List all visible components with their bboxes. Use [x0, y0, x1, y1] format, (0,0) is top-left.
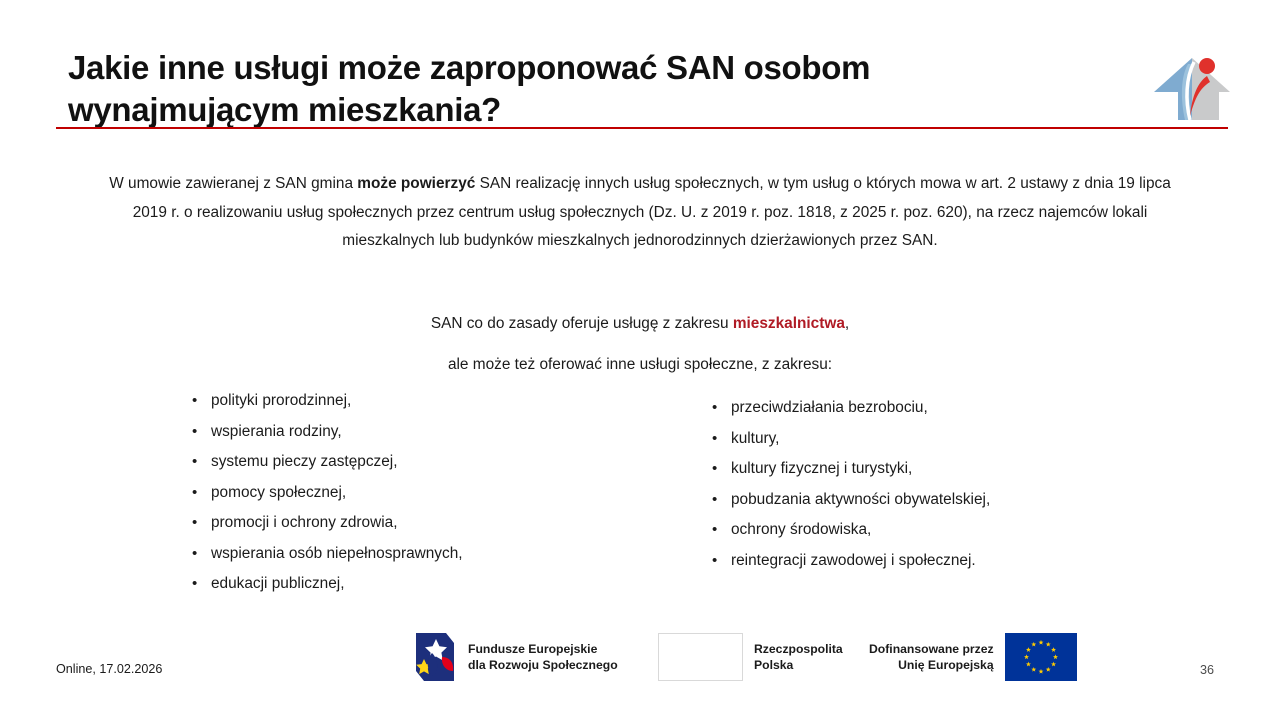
list-item: polityki prorodzinnej, [190, 386, 660, 417]
poland-label: Rzeczpospolita Polska [754, 641, 843, 674]
intro-line-suffix: , [845, 315, 849, 332]
page-title: Jakie inne usługi może zaproponować SAN … [68, 47, 1078, 131]
paragraph-emphasis: może powierzyć [357, 175, 475, 192]
list-item: pobudzania aktywności obywatelskiej, [710, 485, 1180, 516]
list-item: systemu pieczy zastępczej, [190, 447, 660, 478]
accent-keyword: mieszkalnictwa [733, 315, 845, 332]
unia-europejska-logo: Dofinansowane przez Unię Europejską [869, 633, 1077, 681]
list-item: kultury, [710, 424, 1180, 455]
list-item: kultury fizycznej i turystyki, [710, 454, 1180, 485]
poland-flag-icon [658, 633, 743, 681]
list-item: pomocy społecznej, [190, 478, 660, 509]
eu-flag-icon [1005, 633, 1077, 681]
title-divider [56, 127, 1228, 129]
fundusze-europejskie-logo: Fundusze Europejskie dla Rozwoju Społecz… [412, 631, 618, 683]
san-house-logo [1148, 48, 1236, 126]
funding-logo-strip: Fundusze Europejskie dla Rozwoju Społecz… [412, 628, 1112, 688]
intro-line-prefix: SAN co do zasady oferuje usługę z zakres… [431, 315, 733, 332]
lead-paragraph: W umowie zawieranej z SAN gmina może pow… [96, 170, 1184, 256]
eu-label: Dofinansowane przez Unię Europejską [869, 641, 994, 674]
rzeczpospolita-polska-logo: Rzeczpospolita Polska [658, 633, 843, 681]
list-item: przeciwdziałania bezrobociu, [710, 393, 1180, 424]
footer-note: Online, 17.02.2026 [56, 662, 162, 676]
intro-line-primary: SAN co do zasady oferuje usługę z zakres… [96, 315, 1184, 333]
list-item: reintegracji zawodowej i społecznej. [710, 546, 1180, 577]
list-item: wspierania rodziny, [190, 417, 660, 448]
eu-funds-label: Fundusze Europejskie dla Rozwoju Społecz… [468, 641, 618, 674]
bullet-list-right: przeciwdziałania bezrobociu, kultury, ku… [710, 393, 1180, 576]
list-item: wspierania osób niepełnosprawnych, [190, 539, 660, 570]
paragraph-text-start: W umowie zawieranej z SAN gmina [109, 175, 357, 192]
bullet-list-left: polityki prorodzinnej, wspierania rodzin… [190, 386, 660, 600]
intro-line-secondary: ale może też oferować inne usługi społec… [96, 356, 1184, 374]
eu-funds-flag-icon [412, 631, 458, 683]
list-item: ochrony środowiska, [710, 515, 1180, 546]
list-item: edukacji publicznej, [190, 569, 660, 600]
page-number: 36 [1200, 663, 1214, 677]
list-item: promocji i ochrony zdrowia, [190, 508, 660, 539]
